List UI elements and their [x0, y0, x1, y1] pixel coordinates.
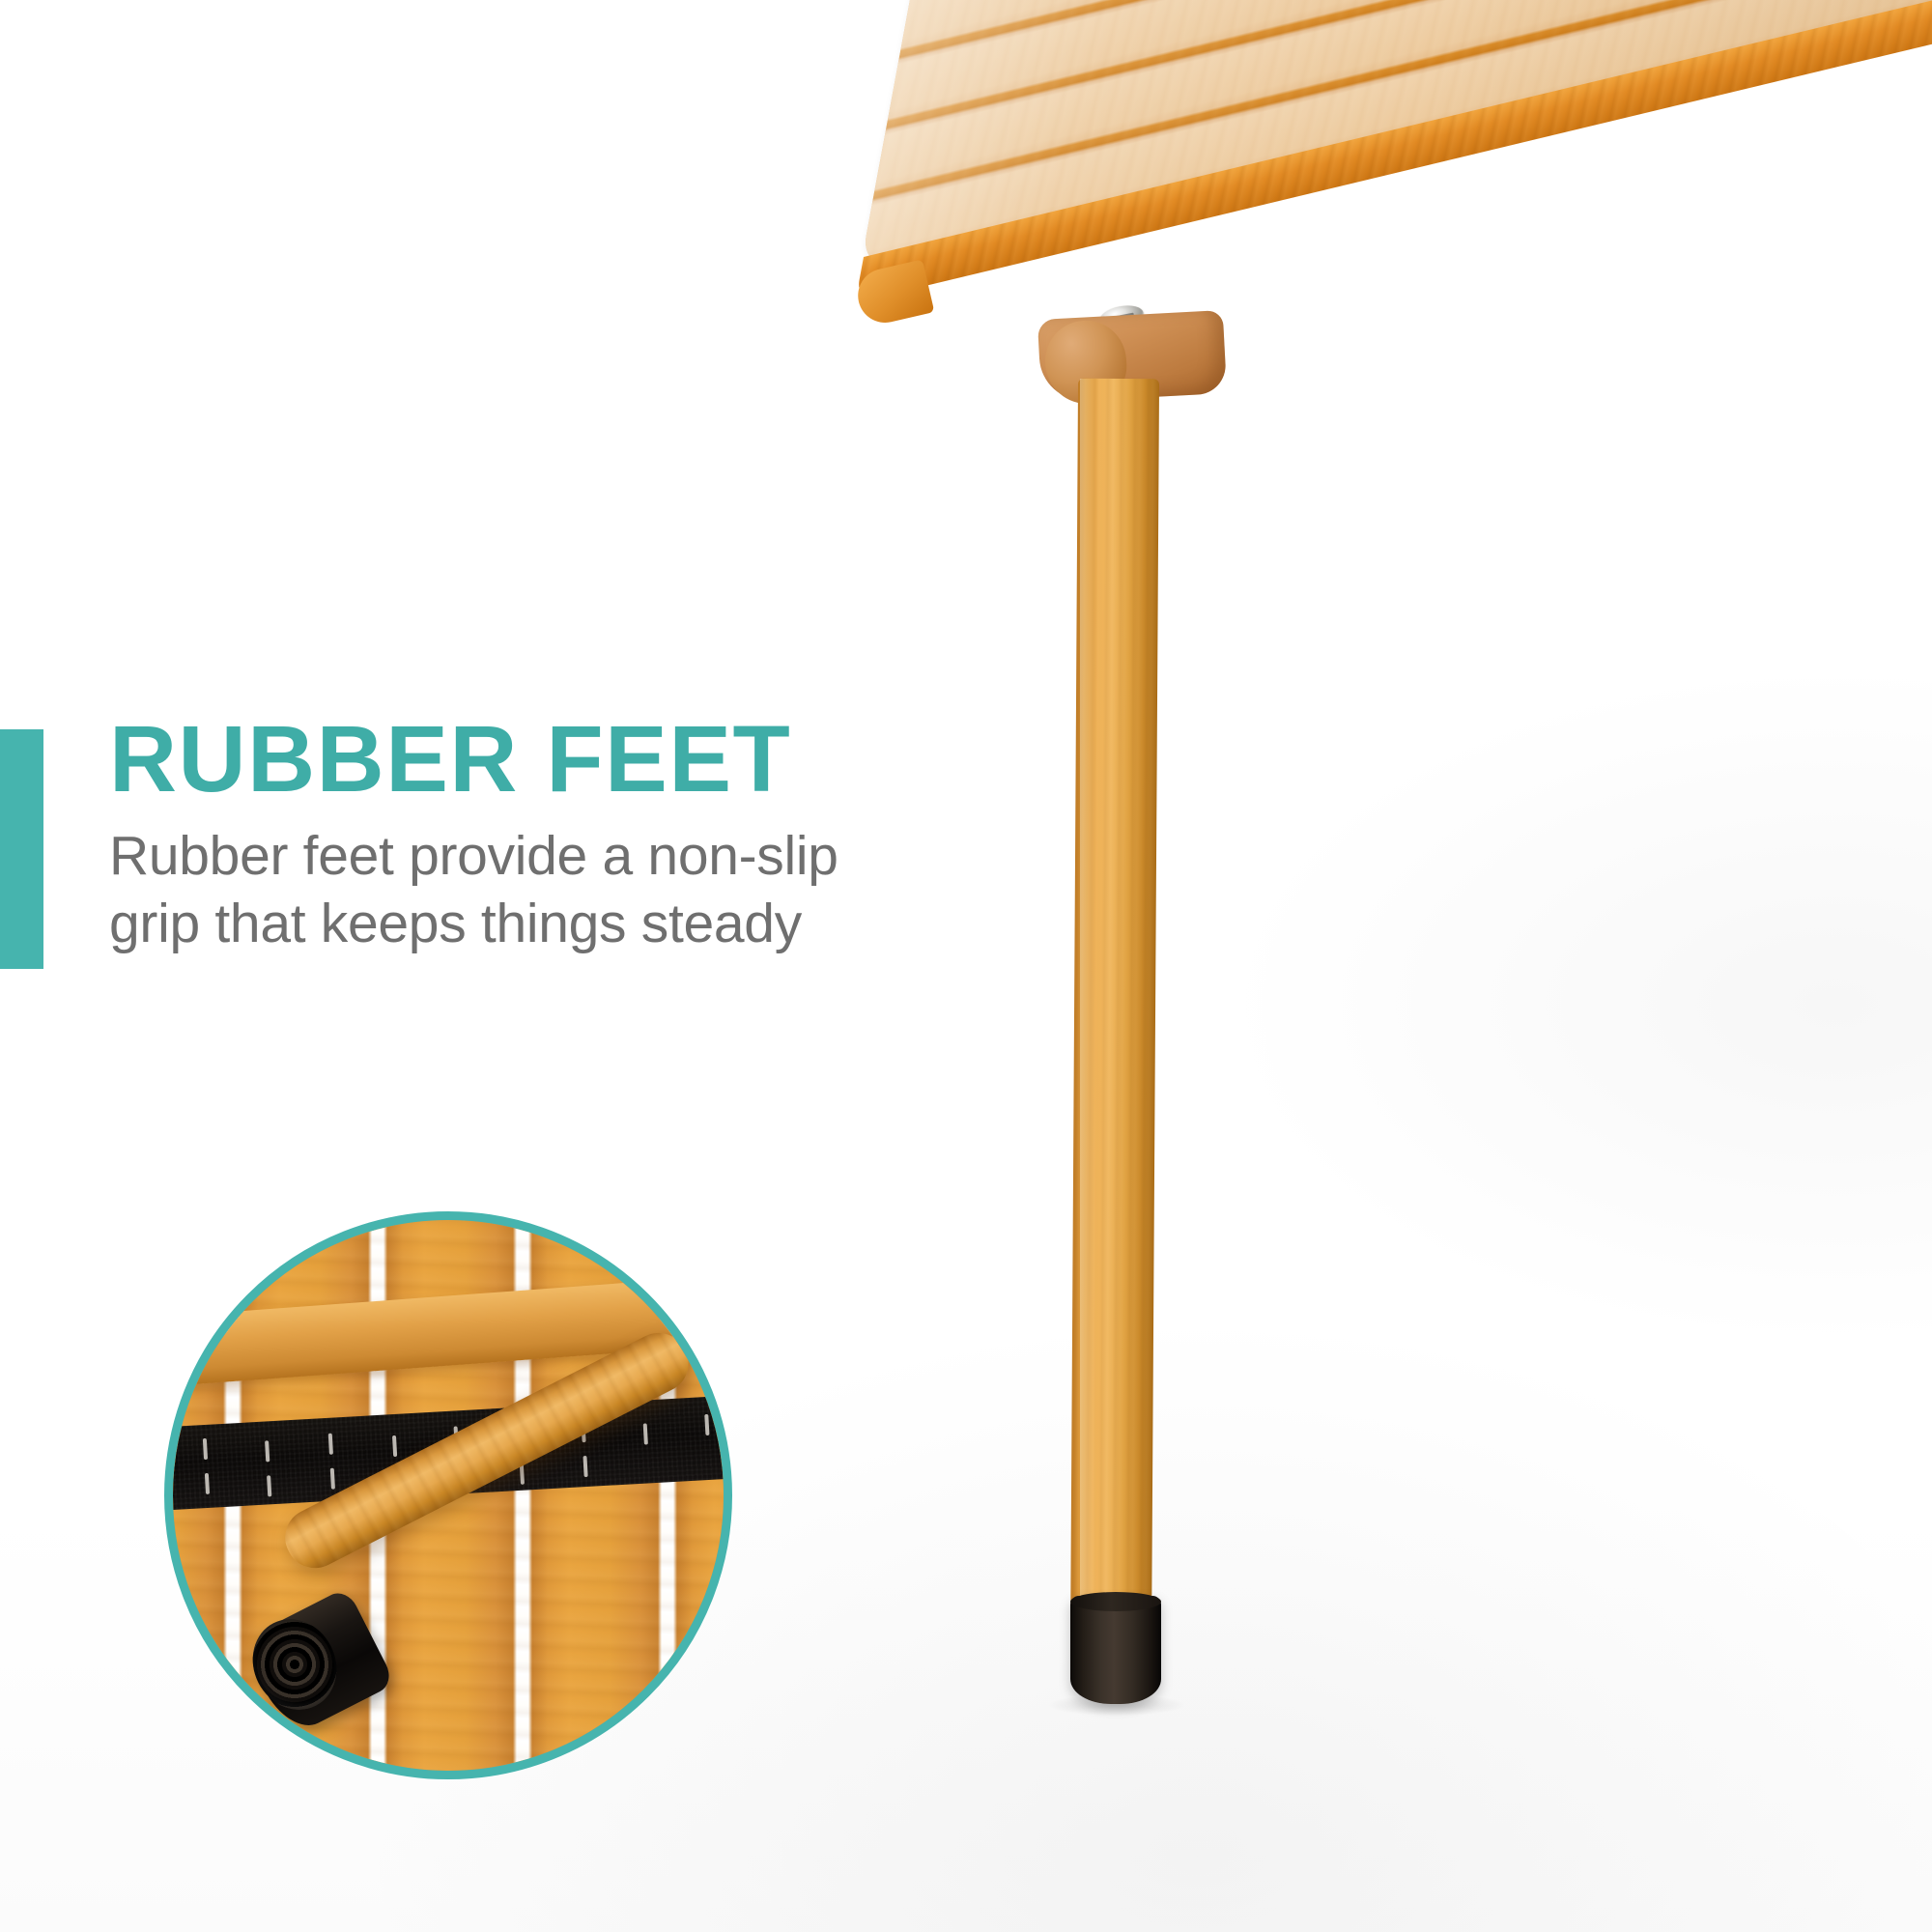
feature-description-line-1: Rubber feet provide a non-slip [109, 823, 1027, 891]
teal-accent-bar [0, 729, 43, 969]
detail-inset-circle [164, 1211, 732, 1779]
rubber-foot-cap [1070, 1596, 1161, 1704]
feature-description-line-2: grip that keeps things steady [109, 891, 1027, 958]
feature-title: RUBBER FEET [109, 712, 791, 806]
product-feature-graphic: RUBBER FEET Rubber feet provide a non-sl… [0, 0, 1932, 1932]
rubber-foot-cap-lip [1070, 1592, 1161, 1611]
table-top-assembly [821, 39, 1932, 638]
feature-description: Rubber feet provide a non-slip grip that… [109, 823, 1027, 957]
table-leg [1070, 379, 1159, 1656]
detail-inset-photo [173, 1220, 724, 1771]
